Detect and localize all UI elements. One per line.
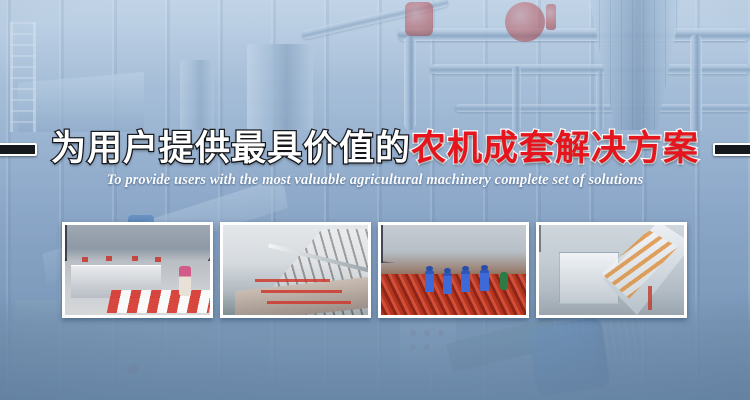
factory-red-box-four [155, 257, 161, 262]
chili-worker-four [480, 269, 489, 291]
chili-worker-two [443, 272, 452, 294]
factory-red-box-two [106, 256, 112, 261]
page-title: 为用户提供最具价值的农机成套解决方案 [51, 127, 699, 171]
headline-row: 为用户提供最具价值的农机成套解决方案 [0, 126, 750, 172]
factory-red-box-three [132, 256, 138, 261]
thumbnail-bucket-elevator-image [539, 225, 684, 315]
headline-white-segment: 为用户提供最具价值的 [51, 129, 411, 168]
factory-product-belt [106, 290, 210, 313]
decorative-dash-right [713, 143, 750, 156]
thumbnail-chili-sorting[interactable] [378, 222, 529, 318]
conveyor-product-line-two [261, 290, 342, 293]
thumbnail-chili-sorting-image [381, 225, 526, 315]
thumbnail-factory-hall[interactable] [62, 222, 213, 318]
thumbnail-factory-hall-image [65, 225, 210, 315]
conveyor-lower-belt [235, 277, 368, 315]
background-photo [0, 0, 750, 400]
background-haze-overlay [0, 0, 750, 400]
page-subtitle: To provide users with the most valuable … [0, 172, 750, 189]
thumbnail-strip [62, 222, 688, 318]
chili-worker-three [461, 270, 470, 292]
chili-hall-roof [381, 225, 526, 263]
promotional-banner: 为用户提供最具价值的农机成套解决方案 To provide users with… [0, 0, 750, 400]
thumbnail-bucket-elevator[interactable] [536, 222, 687, 318]
conveyor-product-line-three [267, 301, 351, 304]
conveyor-product-line-one [255, 279, 330, 282]
decorative-dash-left [0, 143, 37, 156]
chili-worker-five [500, 272, 508, 290]
factory-worker [179, 266, 191, 296]
chili-worker-one [425, 270, 434, 292]
thumbnail-inclined-conveyor-image [223, 225, 368, 315]
factory-red-box-one [82, 257, 88, 262]
elevator-red-pipe [648, 286, 652, 309]
headline-red-segment: 农机成套解决方案 [411, 129, 699, 168]
thumbnail-inclined-conveyor[interactable] [220, 222, 371, 318]
